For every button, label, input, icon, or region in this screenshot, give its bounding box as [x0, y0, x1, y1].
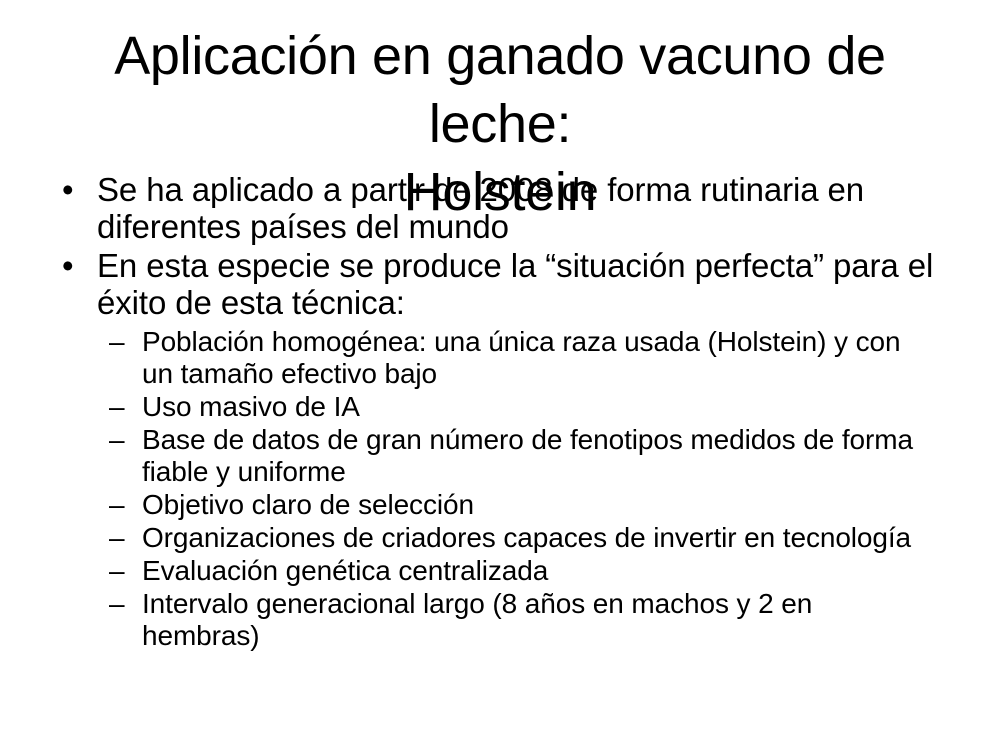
- sub-bullet-text: Organizaciones de criadores capaces de i…: [142, 522, 911, 553]
- sub-bullet-wrap: – Población homogénea: una única raza us…: [97, 326, 954, 652]
- sub-bullet-text: Intervalo generacional largo (8 años en …: [142, 588, 812, 651]
- bullet-item-1: • Se ha aplicado a partir de 2008 de for…: [0, 171, 1000, 245]
- bullet-marker-icon: •: [62, 171, 73, 208]
- bullet-list: • Se ha aplicado a partir de 2008 de for…: [0, 171, 1000, 652]
- slide: Aplicación en ganado vacuno de leche: Ho…: [0, 0, 1000, 750]
- bullet-marker-icon: •: [62, 247, 73, 284]
- dash-marker-icon: –: [109, 326, 124, 358]
- sub-bullet-item-7: – Intervalo generacional largo (8 años e…: [97, 588, 954, 652]
- bullet-text: Se ha aplicado a partir de 2008 de forma…: [97, 171, 864, 245]
- sub-bullet-text: Objetivo claro de selección: [142, 489, 474, 520]
- bullet-text: En esta especie se produce la “situación…: [97, 247, 933, 321]
- sub-bullet-text: Uso masivo de IA: [142, 391, 360, 422]
- sub-bullet-text: Base de datos de gran número de fenotipo…: [142, 424, 913, 487]
- bullet-item-2: • En esta especie se produce la “situaci…: [0, 247, 1000, 652]
- dash-marker-icon: –: [109, 391, 124, 423]
- sub-bullet-item-2: – Uso masivo de IA: [97, 391, 954, 423]
- sub-bullet-list: – Población homogénea: una única raza us…: [97, 326, 954, 652]
- dash-marker-icon: –: [109, 424, 124, 456]
- sub-bullet-item-5: – Organizaciones de criadores capaces de…: [97, 522, 954, 554]
- dash-marker-icon: –: [109, 522, 124, 554]
- sub-bullet-item-6: – Evaluación genética centralizada: [97, 555, 954, 587]
- slide-body: • Se ha aplicado a partir de 2008 de for…: [0, 171, 1000, 654]
- dash-marker-icon: –: [109, 555, 124, 587]
- sub-bullet-text: Población homogénea: una única raza usad…: [142, 326, 900, 389]
- dash-marker-icon: –: [109, 588, 124, 620]
- sub-bullet-item-3: – Base de datos de gran número de fenoti…: [97, 424, 954, 488]
- sub-bullet-item-4: – Objetivo claro de selección: [97, 489, 954, 521]
- dash-marker-icon: –: [109, 489, 124, 521]
- sub-bullet-item-1: – Población homogénea: una única raza us…: [97, 326, 954, 390]
- sub-bullet-text: Evaluación genética centralizada: [142, 555, 548, 586]
